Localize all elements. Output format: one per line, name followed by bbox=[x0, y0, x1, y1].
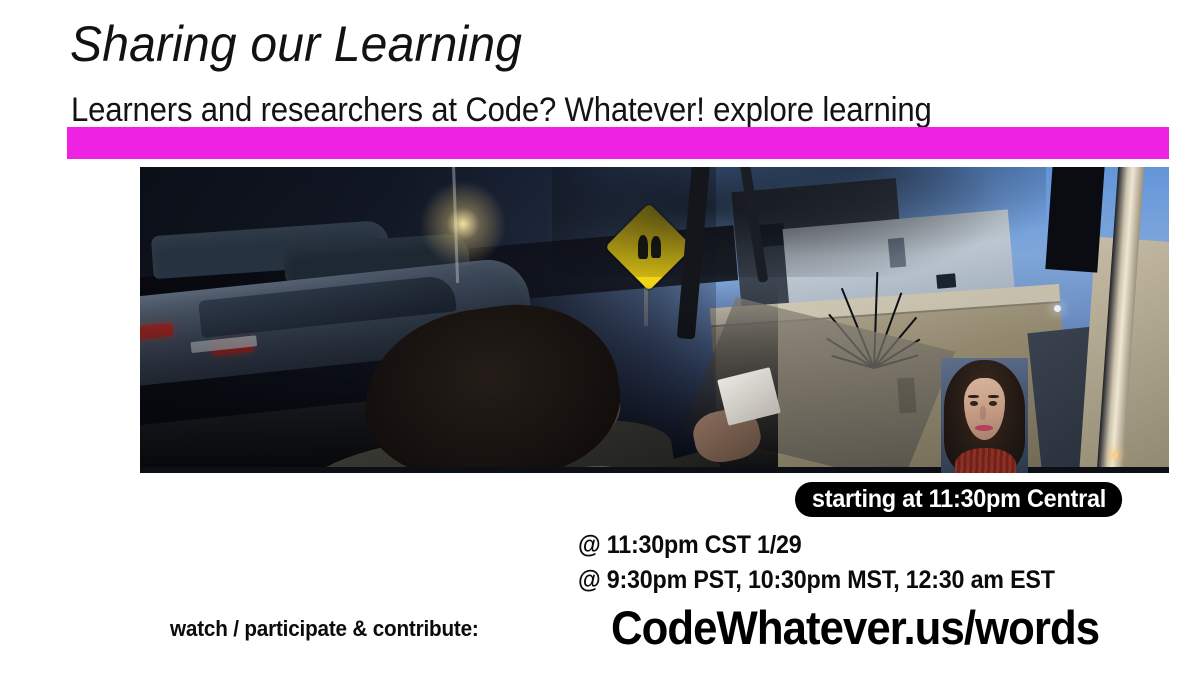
moon-icon bbox=[1054, 305, 1061, 312]
post-shadow bbox=[1045, 167, 1106, 273]
page-title: Sharing our Learning bbox=[70, 14, 522, 74]
accent-bar bbox=[67, 127, 1169, 159]
street-light-glow bbox=[418, 179, 508, 269]
slide-canvas: Sharing our Learning Learners and resear… bbox=[0, 0, 1200, 675]
porch-light-icon bbox=[1112, 452, 1118, 458]
pip-presenter-thumbnail[interactable] bbox=[941, 358, 1028, 473]
video-frame[interactable] bbox=[140, 167, 1169, 473]
schedule-line-1: @ 11:30pm CST 1/29 bbox=[578, 531, 802, 560]
tree-canopy bbox=[552, 167, 1046, 277]
status-badge: starting at 11:30pm Central bbox=[795, 482, 1122, 517]
foreground-person bbox=[315, 308, 727, 473]
video-scene bbox=[140, 167, 1169, 473]
event-url[interactable]: CodeWhatever.us/words bbox=[611, 600, 1099, 655]
page-subtitle: Learners and researchers at Code? Whatev… bbox=[71, 90, 932, 130]
call-to-action-label: watch / participate & contribute: bbox=[170, 616, 479, 642]
schedule-line-2: @ 9:30pm PST, 10:30pm MST, 12:30 am EST bbox=[578, 566, 1055, 595]
